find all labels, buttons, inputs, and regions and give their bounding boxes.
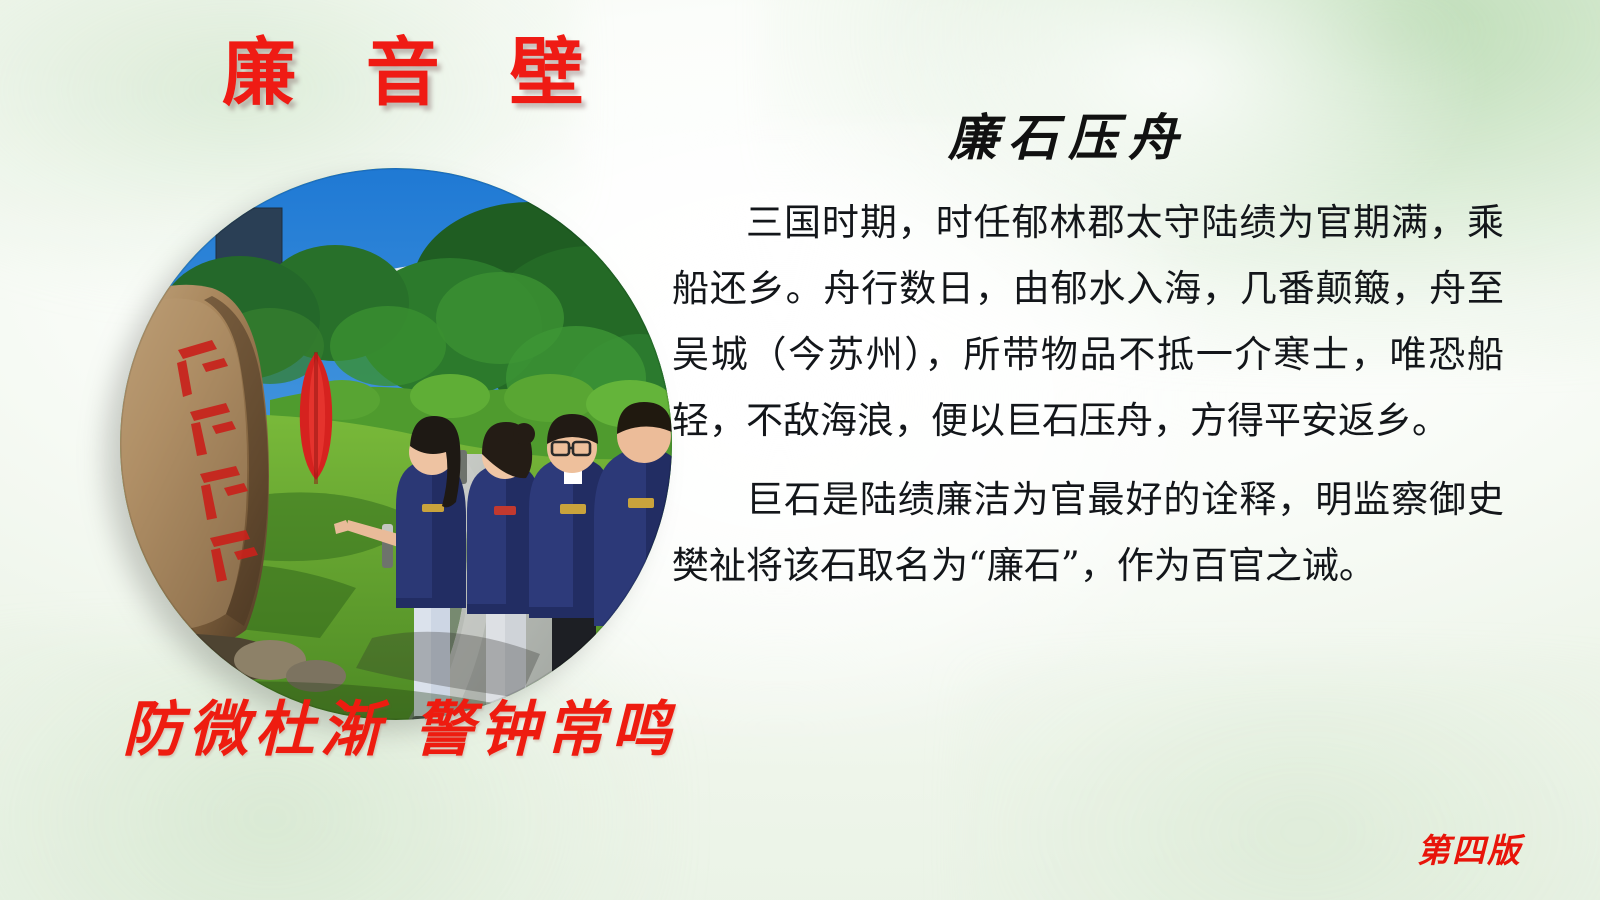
circular-photo	[120, 168, 672, 720]
article-paragraph: 巨石是陆绩廉洁为官最好的诠释，明监察御史樊祉将该石取名为“廉石”，作为百官之诫。	[672, 467, 1504, 599]
article-title: 廉石压舟	[672, 108, 1512, 168]
newspaper-page: 廉 音 壁	[0, 0, 1600, 900]
masthead-title: 廉 音 壁	[222, 36, 606, 110]
photo-figure	[120, 168, 672, 720]
slogan-text: 防微杜渐 警钟常鸣	[120, 700, 680, 760]
article-body: 三国时期，时任郁林郡太守陆绩为官期满，乘船还乡。舟行数日，由郁水入海，几番颠簸，…	[672, 190, 1512, 599]
article: 廉石压舟 三国时期，时任郁林郡太守陆绩为官期满，乘船还乡。舟行数日，由郁水入海，…	[672, 108, 1512, 599]
page-number-mark: 第四版	[1417, 824, 1522, 872]
article-paragraph: 三国时期，时任郁林郡太守陆绩为官期满，乘船还乡。舟行数日，由郁水入海，几番颠簸，…	[672, 190, 1504, 453]
